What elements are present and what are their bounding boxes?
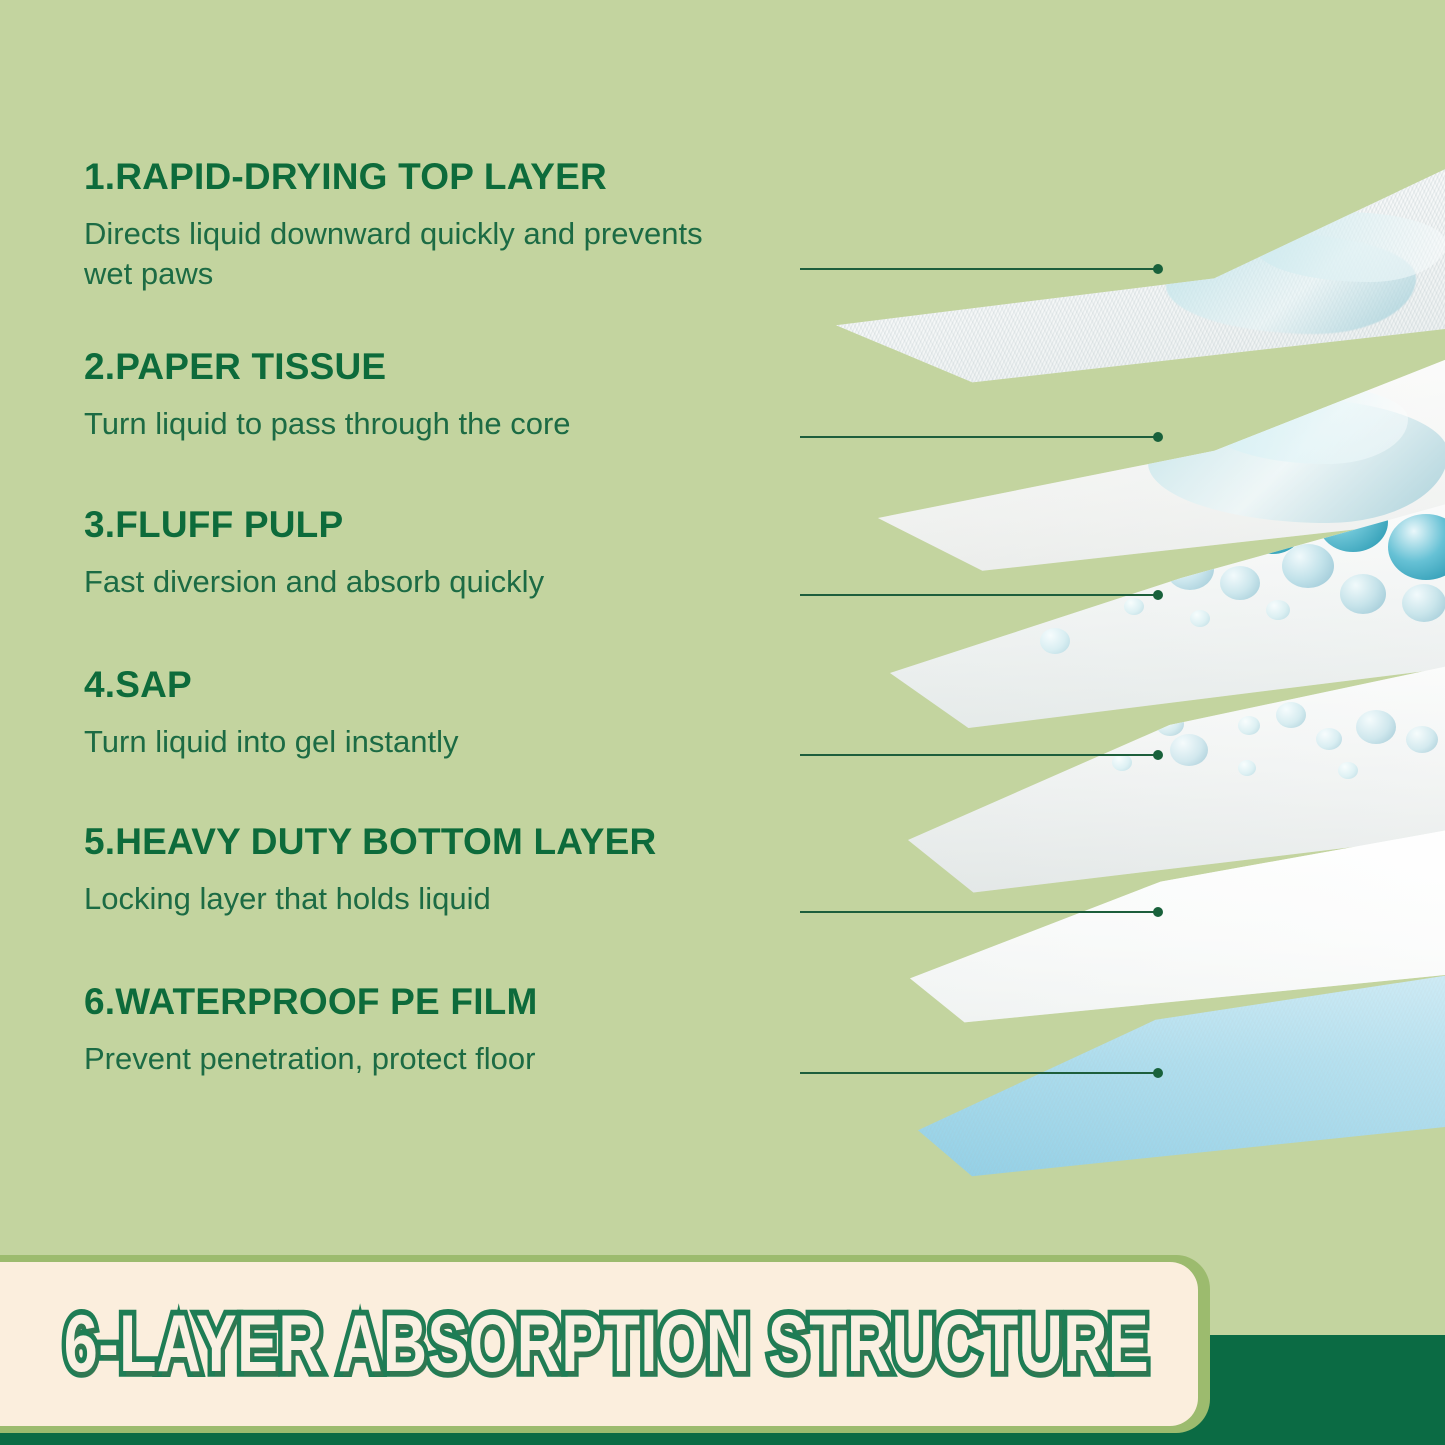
connector-stroke-3	[800, 594, 1162, 596]
gel-bead-3i	[1282, 544, 1334, 588]
connector-dot-5	[1153, 907, 1163, 917]
connector-line-3	[800, 590, 1162, 600]
layer-desc-3: Fast diversion and absorb quickly	[84, 562, 764, 602]
connector-stroke-2	[800, 436, 1162, 438]
layer-item-1: 1.RAPID-DRYING TOP LAYER Directs liquid …	[84, 158, 784, 293]
layer-desc-2: Turn liquid to pass through the core	[84, 404, 764, 444]
gel-bead-3l	[1010, 566, 1038, 590]
layer-stack-illustration	[790, 150, 1445, 1150]
gel-bead-3g	[1166, 548, 1214, 590]
banner-title: 6-LAYER ABSORPTION STRUCTURE	[64, 1298, 1149, 1390]
connector-line-2	[800, 432, 1162, 442]
water-droplet-3	[1172, 258, 1181, 266]
layer-title-4: 4.SAP	[84, 666, 784, 705]
layer-desc-4: Turn liquid into gel instantly	[84, 722, 764, 762]
layer-title-6: 6.WATERPROOF PE FILM	[84, 983, 784, 1022]
connector-dot-1	[1153, 264, 1163, 274]
connector-dot-4	[1153, 750, 1163, 760]
connector-stroke-4	[800, 754, 1162, 756]
water-droplet-2	[1112, 276, 1123, 285]
sap-droplet-4l	[1406, 726, 1438, 753]
sap-droplet-4j	[1316, 728, 1342, 750]
layer-desc-6: Prevent penetration, protect floor	[84, 1039, 764, 1079]
connector-stroke-1	[800, 268, 1162, 270]
connector-dot-2	[1153, 432, 1163, 442]
connector-line-6	[800, 1068, 1162, 1078]
connector-stroke-6	[800, 1072, 1162, 1074]
connector-dot-6	[1153, 1068, 1163, 1078]
gel-bead-3o	[1124, 598, 1144, 615]
layer-item-4: 4.SAP Turn liquid into gel instantly	[84, 666, 784, 762]
connector-dot-3	[1153, 590, 1163, 600]
layer-item-5: 5.HEAVY DUTY BOTTOM LAYER Locking layer …	[84, 823, 784, 919]
layer-desc-5: Locking layer that holds liquid	[84, 879, 764, 919]
connector-stroke-5	[800, 911, 1162, 913]
sap-droplet-4g	[1170, 734, 1208, 766]
layer-desc-1: Directs liquid downward quickly and prev…	[84, 214, 754, 293]
sap-droplet-4p	[1238, 760, 1256, 776]
gel-bead-3k	[1402, 584, 1445, 622]
layer-item-6: 6.WATERPROOF PE FILM Prevent penetration…	[84, 983, 784, 1079]
gel-bead-3s	[1266, 600, 1290, 620]
layer-title-3: 3.FLUFF PULP	[84, 506, 784, 545]
sap-droplet-4h	[1238, 716, 1260, 735]
layer-item-3: 3.FLUFF PULP Fast diversion and absorb q…	[84, 506, 784, 602]
layer-title-5: 5.HEAVY DUTY BOTTOM LAYER	[84, 823, 784, 862]
gel-bead-3j	[1340, 574, 1386, 614]
sap-droplet-4k	[1356, 710, 1396, 744]
infographic-root: 1.RAPID-DRYING TOP LAYER Directs liquid …	[0, 0, 1445, 1445]
connector-line-4	[800, 750, 1162, 760]
layer-sheet-1	[836, 164, 1445, 424]
layer-title-2: 2.PAPER TISSUE	[84, 348, 784, 387]
gel-bead-3h	[1220, 566, 1260, 600]
sap-droplet-4q	[1338, 762, 1358, 779]
gel-droplet-2a	[1130, 446, 1152, 463]
connector-line-1	[800, 264, 1162, 274]
connector-line-5	[800, 907, 1162, 917]
sap-droplet-4i	[1276, 702, 1306, 728]
layer-title-1: 1.RAPID-DRYING TOP LAYER	[84, 158, 784, 197]
gel-bead-3p	[986, 604, 1010, 624]
layer-item-2: 2.PAPER TISSUE Turn liquid to pass throu…	[84, 348, 784, 444]
gel-bead-3q	[1040, 628, 1070, 654]
banner-pill: 6-LAYER ABSORPTION STRUCTURE	[0, 1262, 1198, 1426]
sap-droplet-4n	[1022, 760, 1044, 779]
sap-droplet-4e	[1156, 712, 1184, 736]
sap-droplet-4b	[1060, 720, 1090, 745]
gel-bead-3r	[1190, 610, 1210, 627]
